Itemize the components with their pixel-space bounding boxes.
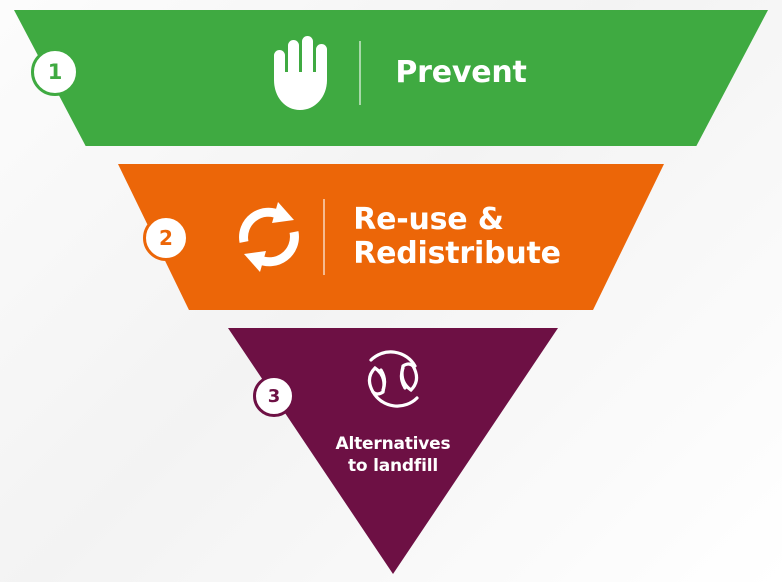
tier-prevent-row: Prevent [255, 33, 526, 113]
tier-reuse-label-line1: Re-use & [353, 203, 561, 237]
tier-reuse-content: Re-use & Redistribute [118, 164, 664, 310]
tier-alternatives-label: Alternatives to landfill [336, 434, 451, 478]
tier-reuse-divider [323, 199, 325, 275]
tier-alternatives-label-line2: to landfill [336, 456, 451, 478]
tier-prevent-content: Prevent [14, 10, 768, 136]
step-badge-3[interactable]: 3 [253, 375, 295, 417]
tier-prevent-label: Prevent [395, 56, 526, 90]
tier-reuse-label: Re-use & Redistribute [353, 203, 561, 270]
recycle-arrows-icon [221, 195, 317, 279]
diagram-canvas: Prevent 1 [0, 0, 782, 582]
step-badge-1[interactable]: 1 [31, 48, 79, 96]
tier-alternatives-label-line1: Alternatives [336, 434, 451, 456]
tier-alternatives-to-landfill[interactable]: Alternatives to landfill [228, 328, 558, 574]
tier-reuse-label-line2: Redistribute [353, 237, 561, 271]
step-badge-2[interactable]: 2 [143, 215, 189, 261]
tier-reuse-redistribute[interactable]: Re-use & Redistribute [118, 164, 664, 310]
leaf-circle-compost-icon [347, 338, 439, 422]
tier-reuse-row: Re-use & Redistribute [221, 195, 561, 279]
tier-alternatives-content: Alternatives to landfill [228, 338, 558, 518]
tier-prevent[interactable]: Prevent [14, 10, 768, 146]
open-hand-stop-icon [255, 33, 351, 113]
tier-prevent-divider [359, 41, 361, 105]
